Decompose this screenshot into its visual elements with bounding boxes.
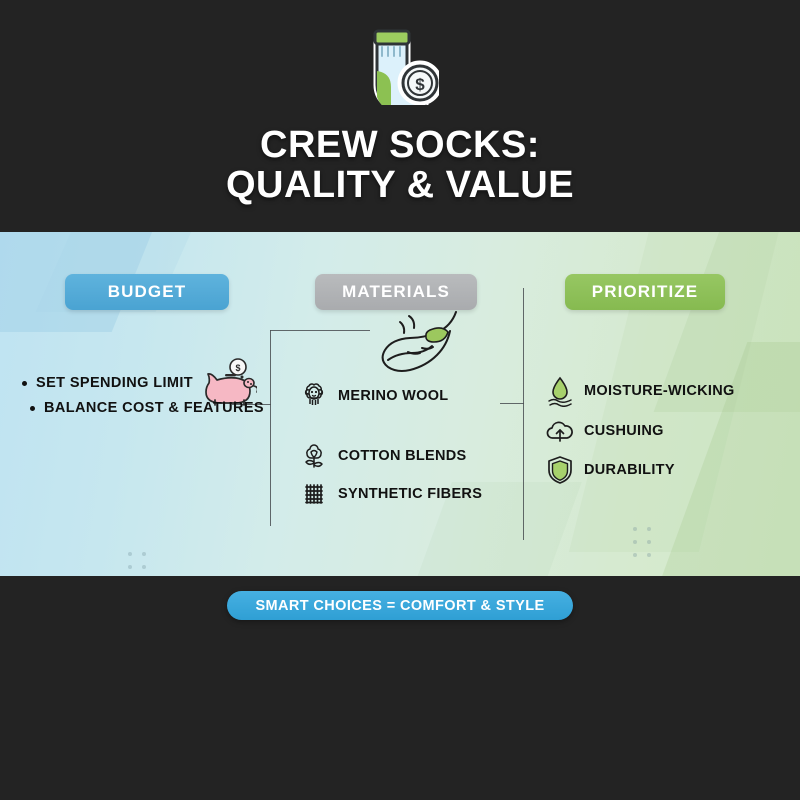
- materials-item-label-0: MERINO WOOL: [338, 388, 448, 404]
- column-badge-budget[interactable]: BUDGET: [65, 274, 229, 310]
- budget-item-label-1: BALANCE COST & FEATURES: [44, 400, 264, 416]
- cloud-up-arrow-icon: [545, 414, 575, 448]
- page-title: CREW SOCKS: QUALITY & VALUE: [0, 126, 800, 205]
- budget-item-label-0: SET SPENDING LIMIT: [36, 375, 193, 391]
- woven-mesh-icon: [298, 478, 330, 510]
- list-item: COTTON BLENDS: [298, 440, 467, 472]
- list-item: MOISTURE-WICKING: [545, 374, 735, 408]
- list-item: CUSHUING: [545, 414, 664, 448]
- list-item: DURABILITY: [545, 453, 675, 487]
- water-drop-icon: [545, 374, 575, 408]
- foot-sole-icon: [378, 308, 478, 383]
- badge-label-prioritize: PRIORITIZE: [592, 282, 698, 302]
- title-line-2: QUALITY & VALUE: [0, 166, 800, 206]
- connector-vertical-left: [270, 330, 271, 526]
- bullet-dot-icon: [30, 406, 35, 411]
- footer-banner[interactable]: SMART CHOICES = COMFORT & STYLE: [227, 591, 573, 620]
- title-line-1: CREW SOCKS:: [0, 126, 800, 166]
- footer-banner-label: SMART CHOICES = COMFORT & STYLE: [255, 598, 544, 614]
- header-section: $ CREW SOCKS: QUALITY & VALUE: [0, 0, 800, 232]
- logo-container: $: [0, 24, 800, 108]
- list-item: SET SPENDING LIMIT: [0, 375, 270, 391]
- cotton-flower-icon: [298, 440, 330, 472]
- svg-text:$: $: [415, 75, 425, 94]
- column-badge-prioritize[interactable]: PRIORITIZE: [565, 274, 725, 310]
- connector-horizontal-right-mid: [500, 403, 524, 404]
- list-item: SYNTHETIC FIBERS: [298, 478, 482, 510]
- materials-item-label-2: SYNTHETIC FIBERS: [338, 486, 482, 502]
- column-budget: SET SPENDING LIMIT BALANCE COST & FEATUR…: [0, 375, 270, 425]
- prioritize-item-label-2: DURABILITY: [584, 462, 675, 478]
- badge-label-materials: MATERIALS: [342, 282, 450, 302]
- bullet-dot-icon: [22, 381, 27, 386]
- sock-with-coin-icon: $: [361, 23, 439, 110]
- svg-text:$: $: [235, 363, 240, 373]
- column-badge-materials[interactable]: MATERIALS: [315, 274, 477, 310]
- connector-vertical-right: [523, 288, 524, 540]
- infographic-root: $ CREW SOCKS: QUALITY & VALUE: [0, 0, 800, 800]
- shield-icon: [545, 453, 575, 487]
- list-item: MERINO WOOL: [298, 380, 448, 412]
- prioritize-item-label-0: MOISTURE-WICKING: [584, 383, 735, 399]
- badge-label-budget: BUDGET: [108, 282, 186, 302]
- connector-horizontal-left-top: [270, 330, 370, 331]
- sheep-icon: [298, 380, 330, 412]
- prioritize-item-label-1: CUSHUING: [584, 423, 664, 439]
- list-item: BALANCE COST & FEATURES: [0, 400, 270, 416]
- materials-item-label-1: COTTON BLENDS: [338, 448, 467, 464]
